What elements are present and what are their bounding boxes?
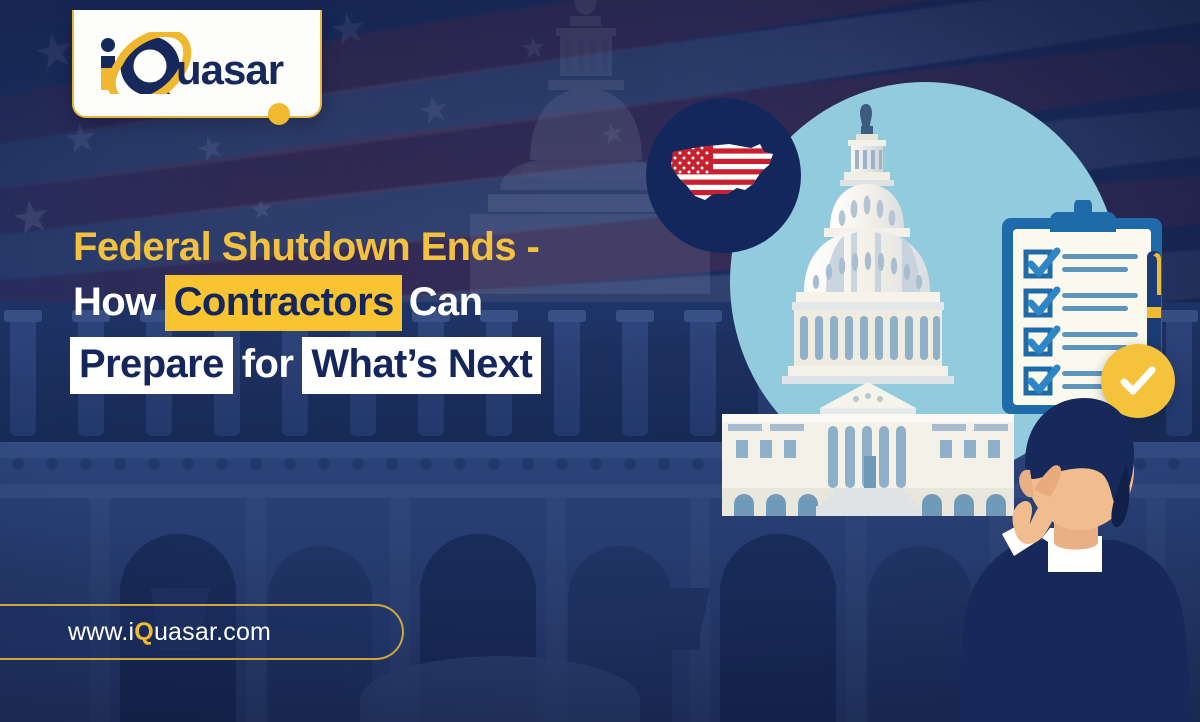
url-suffix: uasar.com (154, 618, 271, 646)
headline-contractors-highlight: Contractors (165, 275, 402, 331)
website-url-text: www.iQuasar.com (68, 618, 271, 647)
url-q-letter: Q (134, 618, 154, 646)
businessman-thinking-illustration (930, 378, 1200, 722)
svg-text:uasar: uasar (176, 46, 284, 93)
url-prefix: www.i (68, 618, 134, 646)
headline-for: for (242, 343, 294, 386)
logo-card[interactable]: uasar (72, 10, 322, 118)
headline: Federal Shutdown Ends - HowContractorsCa… (60, 226, 660, 400)
us-map-flag-icon (665, 138, 783, 214)
hero-illustration (700, 0, 1200, 722)
logo-i-dot (101, 38, 115, 52)
iquasar-logo-icon: uasar (94, 32, 300, 94)
headline-can: Can (402, 281, 483, 324)
website-url-bar[interactable]: www.iQuasar.com (0, 604, 404, 660)
headline-line-1: Federal Shutdown Ends - (73, 226, 660, 269)
us-flag-map-badge (646, 98, 801, 253)
logo-accent-dot (268, 103, 290, 125)
headline-whats-next-highlight: What’s Next (302, 337, 541, 393)
headline-line-3: PrepareforWhat’s Next (60, 337, 660, 393)
headline-line-2: HowContractorsCan (60, 275, 660, 331)
social-media-banner: ★ ★ ★ ★ ★ ★ ★ ★ ★ ★ ★ ★ (0, 0, 1200, 722)
headline-prepare-highlight: Prepare (70, 337, 233, 393)
headline-line1-text: Federal Shutdown Ends - (73, 226, 539, 269)
headline-how: How (60, 281, 156, 324)
